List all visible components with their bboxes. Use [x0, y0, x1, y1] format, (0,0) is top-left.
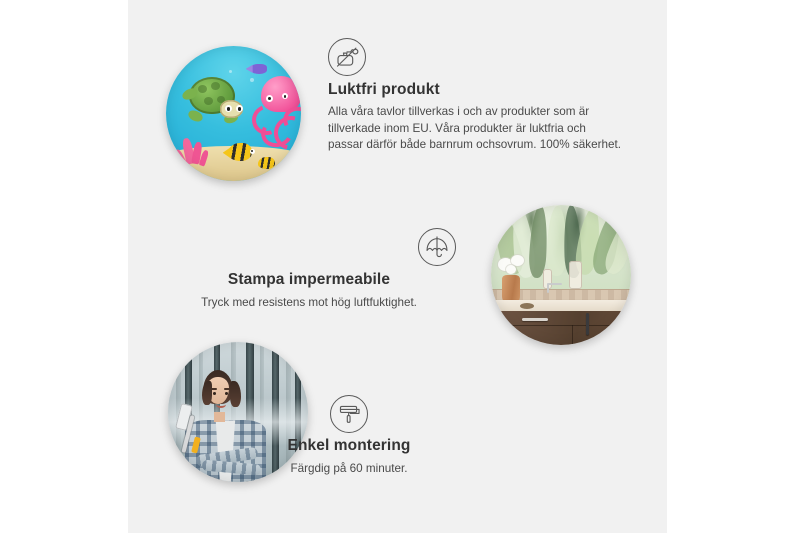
drawer-handle: [522, 318, 548, 321]
feature-text-waterproof-print: Stampa impermeabile Tryck med resistens …: [144, 270, 474, 311]
feature-body: Tryck med resistens mot hög luftfuktighe…: [144, 295, 474, 311]
feature-text-odour-free: Luktfri produkt Alla våra tavlor tillver…: [328, 80, 622, 154]
striped-fish: [258, 157, 275, 169]
bathroom-artwork: [491, 205, 631, 345]
infographic-root: Luktfri produkt Alla våra tavlor tillver…: [0, 0, 800, 533]
feature-title: Enkel montering: [218, 436, 480, 456]
striped-fish: [228, 143, 252, 161]
faucet-body: [547, 283, 549, 293]
underwater-artwork: [166, 46, 301, 181]
feature-title: Luktfri produkt: [328, 80, 622, 100]
feature-body: Alla våra tavlor tillverkas i och av pro…: [328, 104, 622, 154]
soap-dispenser: [569, 261, 582, 289]
feature-text-easy-mounting: Enkel montering Färgdig på 60 minuter.: [218, 436, 480, 477]
feature-row-odour-free: Luktfri produkt Alla våra tavlor tillver…: [128, 0, 667, 190]
feature-title: Stampa impermeabile: [144, 270, 474, 290]
neck: [214, 412, 225, 422]
feature-row-waterproof-print: Stampa impermeabile Tryck med resistens …: [128, 190, 667, 350]
no-perfume-icon: [328, 38, 366, 76]
paint-roller-icon: [330, 395, 368, 433]
underwater-cartoon-circle: [166, 46, 301, 181]
bathroom-leaf-wallpaper-circle: [491, 205, 631, 345]
infographic-panel: Luktfri produkt Alla våra tavlor tillver…: [128, 0, 667, 533]
umbrella-icon: [418, 228, 456, 266]
feature-row-easy-mounting: Enkel montering Färgdig på 60 minuter.: [128, 330, 667, 500]
feature-body: Färgdig på 60 minuter.: [218, 461, 480, 477]
